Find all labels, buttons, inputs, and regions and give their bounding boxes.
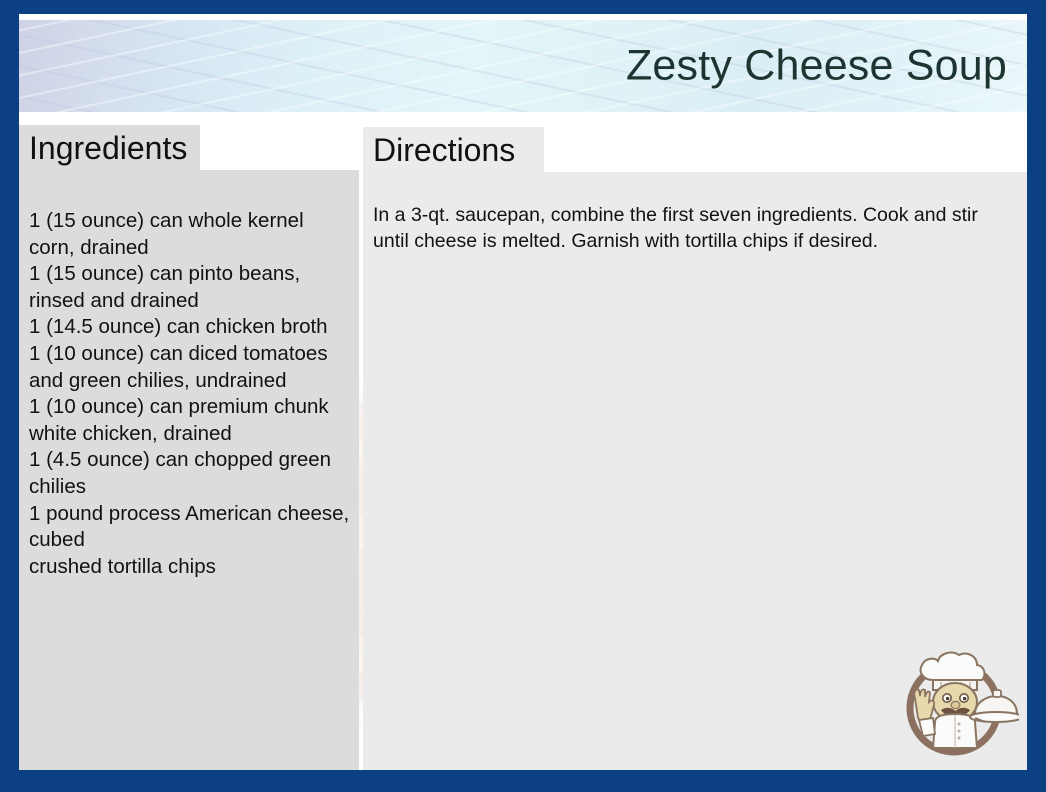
header-band: Zesty Cheese Soup <box>19 20 1027 112</box>
list-item: 1 (10 ounce) can premium chunk white chi… <box>29 394 351 447</box>
list-item: 1 pound process American cheese, cubed <box>29 501 351 554</box>
page-title: Zesty Cheese Soup <box>626 45 1007 88</box>
ingredients-tab: Ingredients <box>19 125 200 170</box>
list-item: 1 (15 ounce) can whole kernel corn, drai… <box>29 208 351 261</box>
list-item: 1 (4.5 ounce) can chopped green chilies <box>29 447 351 500</box>
recipe-card-slide: Zesty Cheese Soup Ingredients 1 (15 ounc… <box>0 0 1046 792</box>
chef-mascot-logo <box>889 636 1019 766</box>
ingredients-panel: Ingredients 1 (15 ounce) can whole kerne… <box>19 125 359 770</box>
directions-tab: Directions <box>363 127 544 172</box>
frame-top-edge <box>0 0 1046 14</box>
frame-left-edge <box>0 0 19 792</box>
frame-bottom-edge <box>0 770 1046 792</box>
recipe-page: Zesty Cheese Soup Ingredients 1 (15 ounc… <box>19 14 1027 770</box>
directions-heading: Directions <box>373 129 544 171</box>
list-item: 1 (10 ounce) can diced tomatoes and gree… <box>29 341 351 394</box>
list-item: 1 (14.5 ounce) can chicken broth <box>29 314 351 341</box>
frame-right-edge <box>1027 0 1046 792</box>
list-item: 1 (15 ounce) can pinto beans, rinsed and… <box>29 261 351 314</box>
directions-text: In a 3-qt. saucepan, combine the first s… <box>373 202 1013 254</box>
list-item: crushed tortilla chips <box>29 554 351 581</box>
serving-platter-icon <box>970 690 1019 722</box>
ingredients-list: 1 (15 ounce) can whole kernel corn, drai… <box>19 170 359 770</box>
ingredients-heading: Ingredients <box>29 127 200 169</box>
